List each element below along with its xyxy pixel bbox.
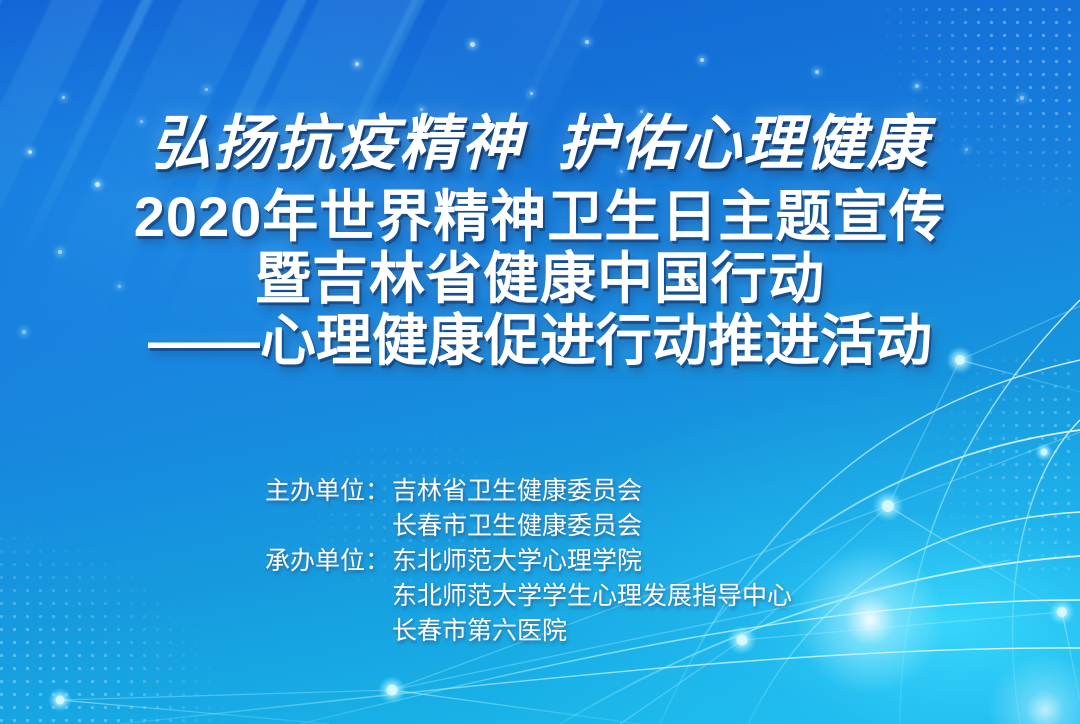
- main-title-line-2: 暨吉林省健康中国行动: [0, 248, 1080, 310]
- main-title: 2020年世界精神卫生日主题宣传 暨吉林省健康中国行动 ——心理健康促进行动推进…: [0, 186, 1080, 372]
- credit-value: 东北师范大学学生心理发展指导中心: [392, 579, 840, 614]
- credit-label-organizer: 主办单位：: [240, 474, 390, 509]
- credits-block: 主办单位： 吉林省卫生健康委员会 长春市卫生健康委员会 承办单位： 东北师范大学…: [0, 474, 1080, 649]
- credit-value: 吉林省卫生健康委员会: [392, 474, 840, 509]
- calligraphy-headline: 弘扬抗疫精神护佑心理健康: [0, 95, 1080, 182]
- credit-value: 长春市第六医院: [392, 614, 840, 649]
- credit-values-host: 东北师范大学心理学院 东北师范大学学生心理发展指导中心 长春市第六医院: [390, 544, 840, 649]
- poster-canvas: 弘扬抗疫精神护佑心理健康 2020年世界精神卫生日主题宣传 暨吉林省健康中国行动…: [0, 0, 1080, 724]
- credit-value: 东北师范大学心理学院: [392, 544, 840, 579]
- calligraphy-phrase-1: 弘扬抗疫精神: [151, 111, 523, 177]
- calligraphy-phrase-2: 护佑心理健康: [557, 111, 929, 177]
- credit-label-host: 承办单位：: [240, 544, 390, 579]
- credit-value: 长春市卫生健康委员会: [392, 509, 840, 544]
- main-title-line-1: 2020年世界精神卫生日主题宣传: [0, 186, 1080, 248]
- main-title-line-3: ——心理健康促进行动推进活动: [0, 310, 1080, 372]
- credit-values-organizer: 吉林省卫生健康委员会 长春市卫生健康委员会: [390, 474, 840, 544]
- credit-row-organizer: 主办单位： 吉林省卫生健康委员会 长春市卫生健康委员会: [240, 474, 840, 544]
- credit-row-host: 承办单位： 东北师范大学心理学院 东北师范大学学生心理发展指导中心 长春市第六医…: [240, 544, 840, 649]
- poster-content: 弘扬抗疫精神护佑心理健康 2020年世界精神卫生日主题宣传 暨吉林省健康中国行动…: [0, 0, 1080, 724]
